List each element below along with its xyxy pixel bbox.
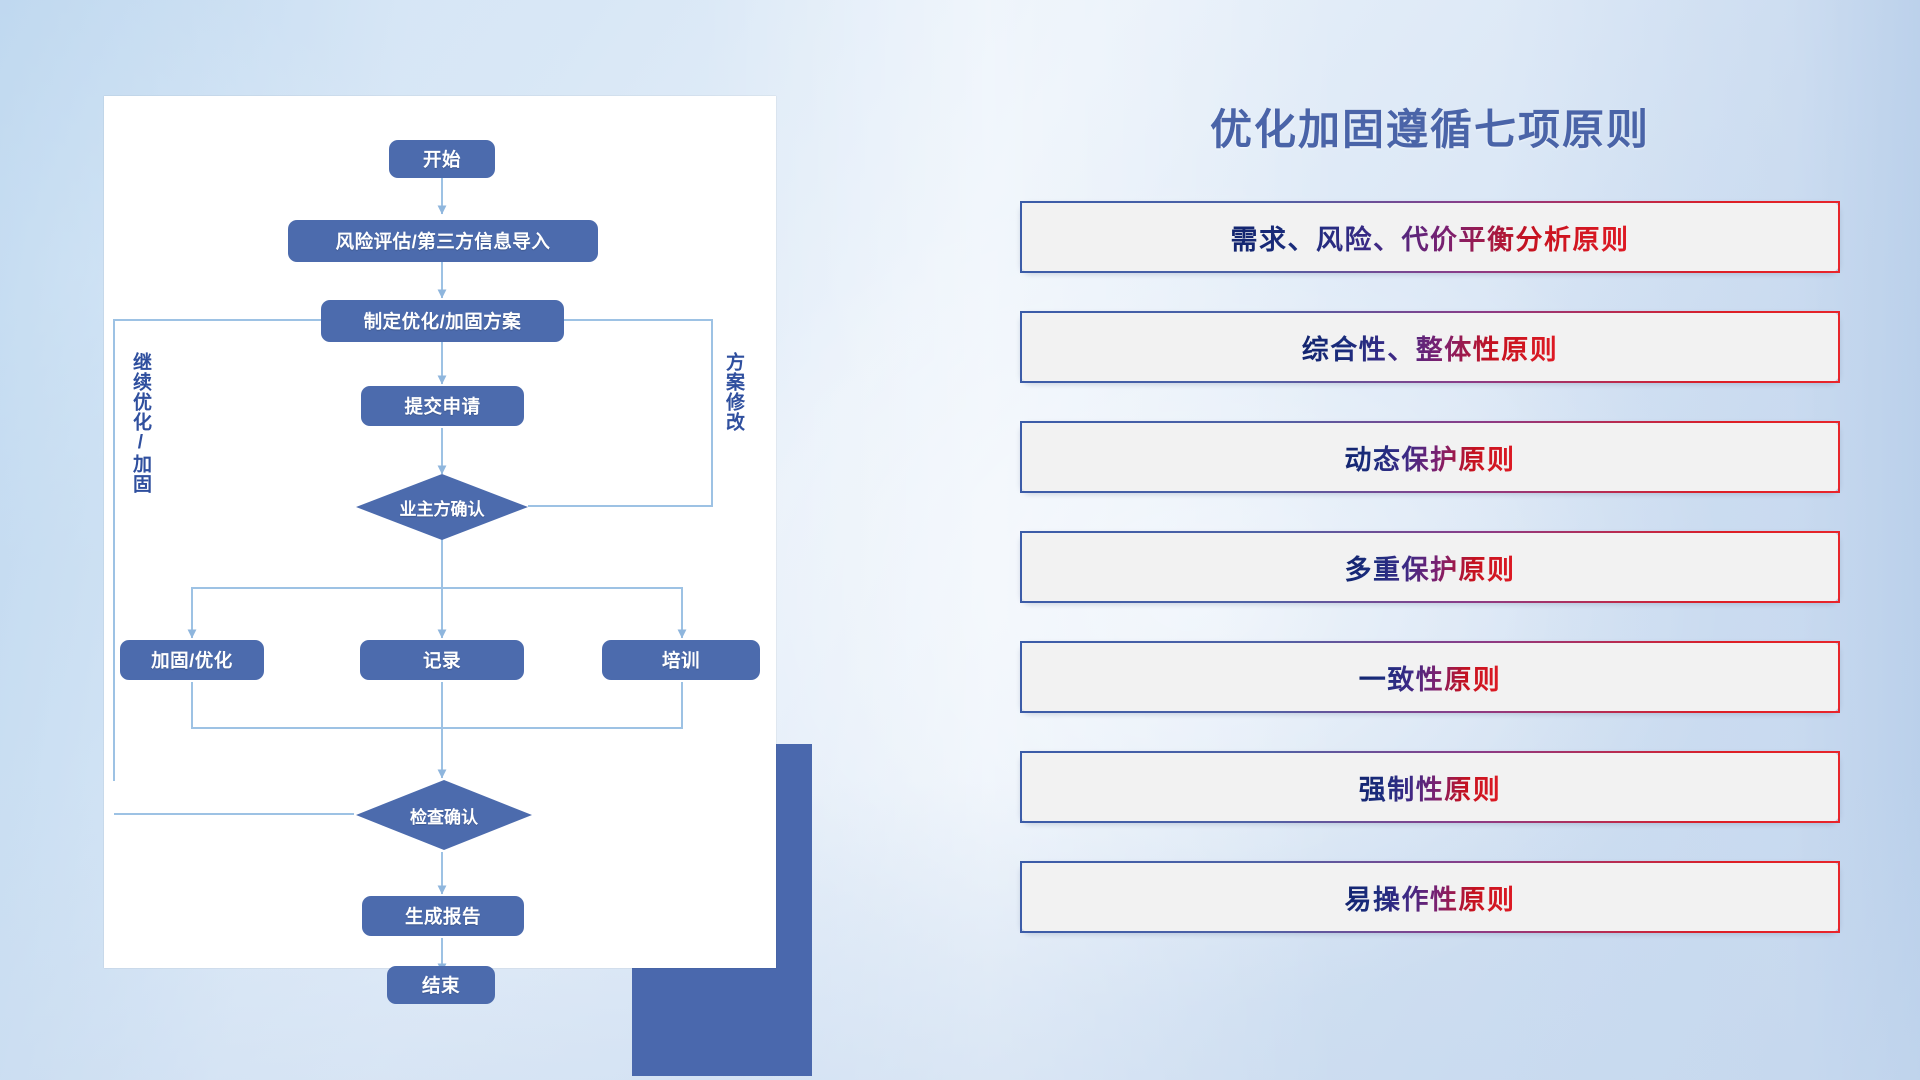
- principle-card[interactable]: 多重保护原则: [1020, 531, 1840, 603]
- flow-node-end[interactable]: 结束: [387, 966, 495, 1004]
- flow-node-generate-report[interactable]: 生成报告: [362, 896, 524, 936]
- flow-node-label: 业主方确认: [400, 495, 485, 520]
- principle-card[interactable]: 综合性、整体性原则: [1020, 311, 1840, 383]
- principle-card[interactable]: 一致性原则: [1020, 641, 1840, 713]
- principle-card-label: 强制性原则: [1359, 768, 1502, 807]
- flow-node-label: 生成报告: [405, 903, 481, 929]
- flow-edge-label-left-loop: 继续优化/加固: [130, 352, 150, 494]
- flow-node-record[interactable]: 记录: [360, 640, 524, 680]
- principle-card-label: 一致性原则: [1359, 658, 1502, 697]
- principle-card-label: 易操作性原则: [1345, 878, 1516, 917]
- flow-edge-label-right-loop: 方案修改: [723, 352, 743, 432]
- flow-node-label: 开始: [423, 146, 461, 172]
- flowchart-panel: 开始 风险评估/第三方信息导入 制定优化/加固方案 提交申请 业主方确认 加固/…: [104, 96, 776, 968]
- page-title: 优化加固遵循七项原则: [1020, 96, 1840, 157]
- principle-card-label: 动态保护原则: [1345, 438, 1516, 477]
- flow-node-plan[interactable]: 制定优化/加固方案: [321, 300, 564, 342]
- flow-node-submit-application[interactable]: 提交申请: [361, 386, 524, 426]
- flow-node-reinforce[interactable]: 加固/优化: [120, 640, 264, 680]
- principle-card[interactable]: 易操作性原则: [1020, 861, 1840, 933]
- flow-node-label: 结束: [422, 972, 460, 998]
- flowchart-region: 开始 风险评估/第三方信息导入 制定优化/加固方案 提交申请 业主方确认 加固/…: [104, 96, 780, 990]
- flow-node-label: 风险评估/第三方信息导入: [336, 228, 551, 254]
- flow-node-label: 提交申请: [404, 393, 480, 419]
- flow-node-start[interactable]: 开始: [389, 140, 495, 178]
- flow-node-label: 检查确认: [410, 803, 478, 828]
- flow-node-label: 加固/优化: [151, 647, 233, 673]
- principle-card-label: 综合性、整体性原则: [1302, 328, 1559, 367]
- principle-card[interactable]: 动态保护原则: [1020, 421, 1840, 493]
- flow-node-check-confirm[interactable]: 检查确认: [356, 780, 532, 850]
- principles-panel: 优化加固遵循七项原则 需求、风险、代价平衡分析原则 综合性、整体性原则 动态保护…: [1020, 96, 1840, 971]
- flow-node-risk-assessment[interactable]: 风险评估/第三方信息导入: [288, 220, 598, 262]
- principle-card[interactable]: 需求、风险、代价平衡分析原则: [1020, 201, 1840, 273]
- principle-card-label: 多重保护原则: [1345, 548, 1516, 587]
- flow-node-owner-confirm[interactable]: 业主方确认: [356, 474, 528, 540]
- principle-card-label: 需求、风险、代价平衡分析原则: [1231, 218, 1630, 257]
- flow-node-label: 记录: [423, 647, 461, 673]
- flow-node-training[interactable]: 培训: [602, 640, 760, 680]
- principle-card[interactable]: 强制性原则: [1020, 751, 1840, 823]
- flow-node-label: 制定优化/加固方案: [364, 308, 522, 334]
- flow-node-label: 培训: [662, 647, 700, 673]
